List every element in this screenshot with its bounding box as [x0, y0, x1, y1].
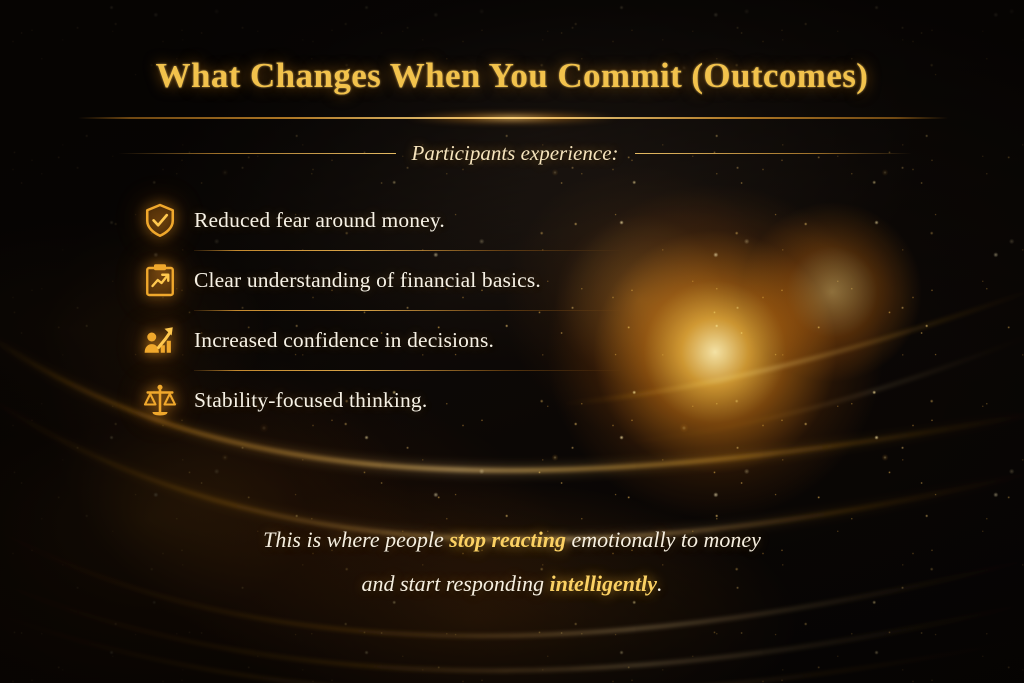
list-item: Clear understanding of financial basics.	[140, 250, 660, 310]
footer-text-2b: .	[657, 571, 663, 596]
outcomes-list: Reduced fear around money. Clear underst…	[140, 190, 660, 430]
footer-accent-1: stop reacting	[449, 527, 566, 552]
balance-scales-icon	[140, 380, 180, 420]
list-item: Reduced fear around money.	[140, 190, 660, 250]
outcome-label: Stability-focused thinking.	[194, 388, 427, 413]
outcomes-slide: What Changes When You Commit (Outcomes) …	[0, 0, 1024, 683]
outcome-label: Increased confidence in decisions.	[194, 328, 494, 353]
subheading-rule-right	[635, 153, 913, 154]
outcome-label: Reduced fear around money.	[194, 208, 445, 233]
list-item: Increased confidence in decisions.	[140, 310, 660, 370]
footer-line-1: This is where people stop reacting emoti…	[0, 518, 1024, 562]
clipboard-chart-icon	[140, 260, 180, 300]
footer-text-1a: This is where people	[263, 527, 449, 552]
footer-text-1b: emotionally to money	[566, 527, 761, 552]
page-title: What Changes When You Commit (Outcomes)	[0, 56, 1024, 96]
list-item: Stability-focused thinking.	[140, 370, 660, 430]
footer-text-2a: and start responding	[361, 571, 549, 596]
subheading-text: Participants experience:	[412, 141, 619, 166]
slide-content: What Changes When You Commit (Outcomes) …	[0, 0, 1024, 683]
shield-check-icon	[140, 200, 180, 240]
subheading-rule-left	[118, 153, 396, 154]
footer-statement: This is where people stop reacting emoti…	[0, 518, 1024, 606]
person-growth-chart-icon	[140, 320, 180, 360]
subheading-row: Participants experience:	[118, 141, 912, 166]
footer-line-2: and start responding intelligently.	[0, 562, 1024, 606]
footer-accent-2: intelligently	[549, 571, 657, 596]
outcome-label: Clear understanding of financial basics.	[194, 268, 541, 293]
